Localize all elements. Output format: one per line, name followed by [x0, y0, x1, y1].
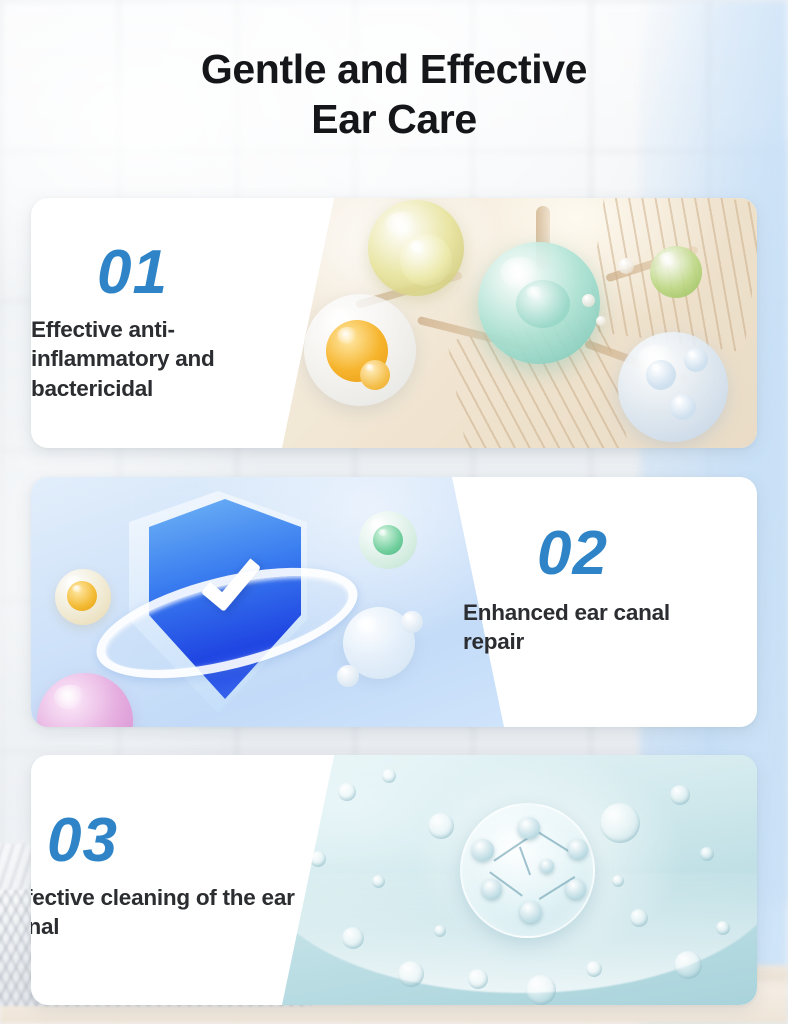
water-splash-artwork [282, 755, 757, 1005]
water-droplet [434, 925, 446, 937]
bubble-blue-atom [670, 394, 696, 420]
bubble-clear-atom [401, 611, 423, 633]
water-droplet [338, 783, 356, 801]
infographic-page: Gentle and Effective Ear Care [0, 0, 788, 1024]
molecule-atom [472, 839, 494, 861]
bubble-micro [582, 294, 595, 307]
bubble-blue-molecule [618, 332, 728, 442]
molecule-atom [518, 817, 540, 839]
water-droplet [674, 951, 702, 979]
bubble-blue-atom [684, 348, 708, 372]
molecule-atom [540, 859, 554, 873]
card-headline-01: Effective anti-inflammatory and bacteric… [31, 315, 291, 403]
bubble-micro [596, 316, 606, 326]
water-droplet [670, 785, 690, 805]
card-number-02: 02 [537, 523, 608, 585]
water-droplet [630, 909, 648, 927]
bubble-orange-core [67, 581, 97, 611]
bubble-pink-molecule [37, 673, 133, 727]
serum-molecules-artwork [282, 198, 757, 448]
water-droplet [600, 803, 640, 843]
serum-molecules-image [282, 198, 757, 448]
molecule-atom [482, 879, 502, 899]
bubble-green-core [373, 525, 403, 555]
page-title: Gentle and Effective Ear Care [0, 44, 788, 144]
card-headline-02: Enhanced ear canal repair [463, 598, 713, 657]
bubble-teal-core [516, 280, 570, 328]
card-number-03: 03 [47, 810, 118, 872]
water-droplet [398, 961, 424, 987]
bubble-orange-small [360, 360, 390, 390]
molecule-atom [566, 879, 586, 899]
molecule-atom [568, 839, 588, 859]
water-droplet [586, 961, 602, 977]
bubble-micro [618, 258, 634, 274]
water-droplet [382, 769, 396, 783]
protection-shield-image [31, 477, 504, 727]
bubble-clear-atom [337, 665, 359, 687]
water-droplet [372, 875, 385, 888]
water-droplet [716, 921, 730, 935]
page-title-line-2: Ear Care [0, 94, 788, 144]
card-headline-03: Effective cleaning of the ear canal [31, 883, 303, 942]
water-splash-molecule-image [282, 755, 757, 1005]
water-droplet [526, 975, 556, 1005]
card-number-01: 01 [97, 242, 168, 304]
feature-card-01[interactable]: 01 Effective anti-inflammatory and bacte… [31, 198, 757, 448]
bubble-green-small [650, 246, 702, 298]
molecule-atom [520, 901, 542, 923]
bubble-yellow-inner [400, 234, 452, 286]
water-droplet [428, 813, 454, 839]
protection-shield-artwork [31, 477, 504, 727]
feature-card-02[interactable]: 02 Enhanced ear canal repair [31, 477, 757, 727]
water-droplet [342, 927, 364, 949]
card-text-block-02: 02 Enhanced ear canal repair [463, 477, 713, 727]
bubble-blue-atom [646, 360, 676, 390]
water-droplet [612, 875, 624, 887]
water-droplet [700, 847, 714, 861]
water-droplet [310, 851, 326, 867]
water-droplet [468, 969, 488, 989]
page-title-line-1: Gentle and Effective [201, 46, 587, 92]
feature-card-03[interactable]: 03 Effective cleaning of the ear canal [31, 755, 757, 1005]
